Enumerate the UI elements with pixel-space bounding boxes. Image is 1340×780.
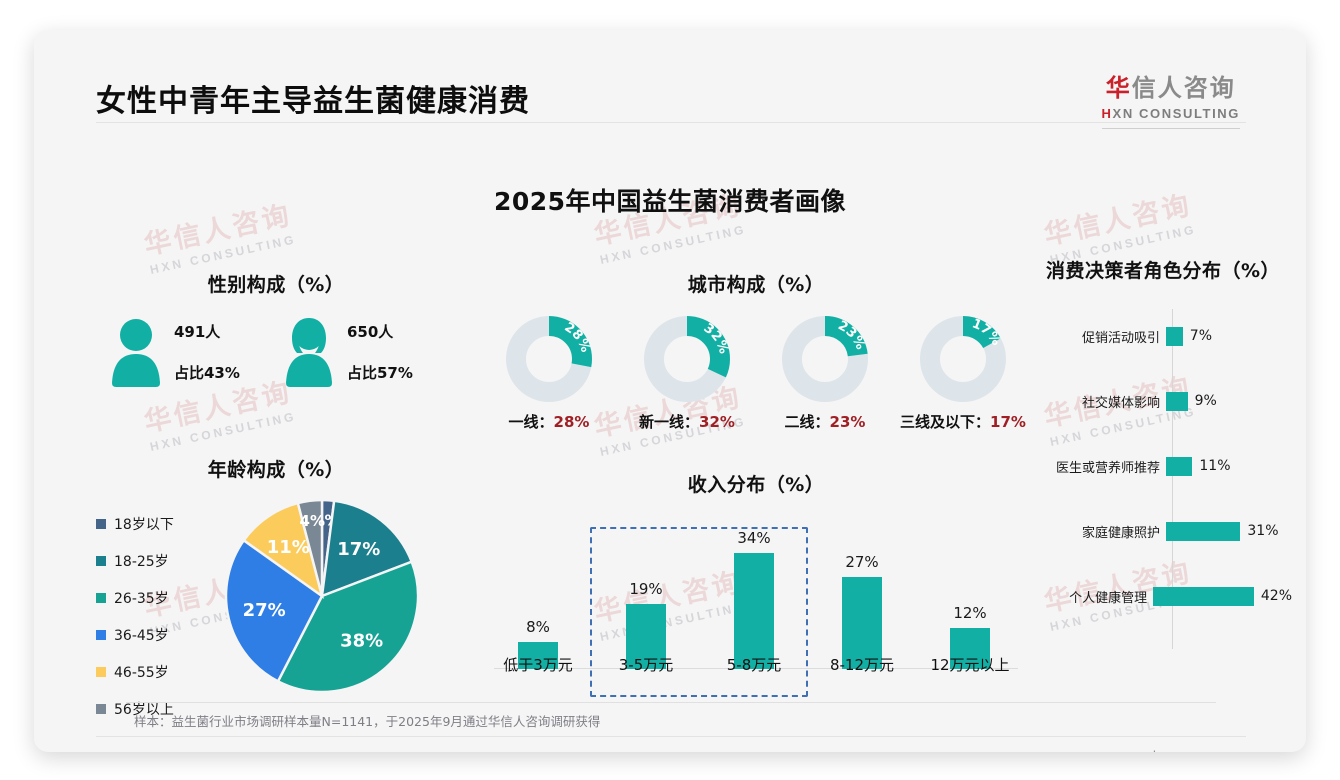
website-text: www.hxrcon.com xyxy=(1119,748,1226,752)
age-title: 年龄构成（%） xyxy=(96,455,456,482)
income-category-label: 低于3万元 xyxy=(486,654,590,675)
legend-swatch-icon xyxy=(96,519,106,529)
roles-category-label: 社交媒体影响 xyxy=(1034,392,1166,411)
income-bar-value: 12% xyxy=(918,604,1022,622)
roles-bar xyxy=(1166,327,1183,346)
income-category-label: 12万元以上 xyxy=(918,654,1022,675)
roles-bar-row: 促销活动吸引7% xyxy=(1034,323,1292,349)
male-stats: 491人 占比43% xyxy=(174,315,240,383)
logo-en-rest: XN CONSULTING xyxy=(1113,106,1240,121)
header-divider xyxy=(96,122,1246,123)
income-bar-column: 8%低于3万元 xyxy=(486,642,590,669)
sample-note: 样本：益生菌行业市场调研样本量N=1141，于2025年9月通过华信人咨询调研获… xyxy=(134,711,600,730)
pie-slice-label: 27% xyxy=(243,600,286,621)
roles-bar xyxy=(1166,392,1188,411)
gender-figures: 491人 占比43% 650人 占比57% xyxy=(96,315,456,387)
city-item-tier1: 28% 一线：28% xyxy=(486,313,612,432)
pie-slice-label: 38% xyxy=(340,630,383,651)
legend-item: 46-55岁 xyxy=(96,662,216,682)
roles-title: 消费决策者角色分布（%） xyxy=(1034,256,1292,283)
city-item-tier3: 17% 三线及以下：17% xyxy=(900,313,1026,432)
donut-chart-tier2: 23% xyxy=(779,313,871,405)
gender-title: 性别构成（%） xyxy=(96,270,456,297)
legend-swatch-icon xyxy=(96,593,106,603)
roles-panel: 消费决策者角色分布（%） 促销活动吸引7%社交媒体影响9%医生或营养师推荐11%… xyxy=(1034,256,1292,649)
pie-slice-label: 17% xyxy=(337,539,380,560)
income-title: 收入分布（%） xyxy=(486,470,1026,497)
roles-bar xyxy=(1166,522,1240,541)
infographic-card: 华信人咨询 HXN CONSULTING 华信人咨询 HXN CONSULTIN… xyxy=(34,30,1306,752)
male-count: 491人 xyxy=(174,321,240,342)
note-divider xyxy=(126,702,1216,703)
city-title: 城市构成（%） xyxy=(486,270,1026,297)
logo-en-red: H xyxy=(1102,106,1113,121)
income-bar-column: 12%12万元以上 xyxy=(918,628,1022,669)
income-bar-column: 27%8-12万元 xyxy=(810,577,914,669)
legend-item: 18岁以下 xyxy=(96,514,216,534)
pie-slice-label: 4% xyxy=(300,512,325,530)
legend-swatch-icon xyxy=(96,556,106,566)
income-bar-value: 27% xyxy=(810,553,914,571)
age-legend: 18岁以下 18-25岁 26-35岁 36-45岁 46-55岁 xyxy=(96,496,216,736)
income-bar xyxy=(734,553,774,669)
gender-panel: 性别构成（%） 491人 占比43% xyxy=(96,270,456,387)
legend-swatch-icon xyxy=(96,667,106,677)
logo-underline xyxy=(1102,128,1240,129)
city-panel: 城市构成（%） 28% 一线：28% xyxy=(486,270,1026,432)
roles-bar-row: 社交媒体影响9% xyxy=(1034,388,1292,414)
income-category-label: 3-5万元 xyxy=(594,654,698,675)
gender-item-female: 650人 占比57% xyxy=(283,315,456,387)
logo-chinese-text: 华信人咨询 xyxy=(1102,68,1240,103)
city-label-tier2: 二线：23% xyxy=(762,411,888,432)
income-bar-value: 34% xyxy=(702,529,806,547)
legend-swatch-icon xyxy=(96,704,106,714)
city-item-tier2: 23% 二线：23% xyxy=(762,313,888,432)
female-figure-icon xyxy=(283,315,335,387)
roles-bar-value: 31% xyxy=(1247,523,1278,539)
roles-category-label: 促销活动吸引 xyxy=(1034,327,1166,346)
female-stats: 650人 占比57% xyxy=(347,315,413,383)
roles-bar-row: 医生或营养师推荐11% xyxy=(1034,453,1292,479)
header: 女性中青年主导益生菌健康消费 华信人咨询 HXN CONSULTING xyxy=(34,30,1306,122)
roles-category-label: 医生或营养师推荐 xyxy=(1034,457,1166,476)
roles-bar-value: 42% xyxy=(1261,588,1292,604)
roles-bar-row: 个人健康管理42% xyxy=(1034,583,1292,609)
income-panel: 收入分布（%） 8%低于3万元19%3-5万元34%5-8万元27%8-12万元… xyxy=(486,470,1026,693)
donut-chart-tier3: 17% xyxy=(917,313,1009,405)
chart-subtitle: 2025年中国益生菌消费者画像 xyxy=(34,182,1306,218)
roles-category-label: 个人健康管理 xyxy=(1034,587,1153,606)
roles-category-label: 家庭健康照护 xyxy=(1034,522,1166,541)
city-label-tier3: 三线及以下：17% xyxy=(900,411,1026,432)
logo-english-text: HXN CONSULTING xyxy=(1102,106,1240,121)
income-category-label: 5-8万元 xyxy=(702,654,806,675)
income-bar-chart: 8%低于3万元19%3-5万元34%5-8万元27%8-12万元12%12万元以… xyxy=(486,513,1026,693)
roles-bar-row: 家庭健康照护31% xyxy=(1034,518,1292,544)
male-figure-icon xyxy=(110,315,162,387)
pie-slice-label: 11% xyxy=(267,537,310,558)
roles-bar-chart: 促销活动吸引7%社交媒体影响9%医生或营养师推荐11%家庭健康照护31%个人健康… xyxy=(1034,309,1292,649)
female-count: 650人 xyxy=(347,321,413,342)
donut-chart-tier1: 28% xyxy=(503,313,595,405)
city-item-newtier1: 32% 新一线：32% xyxy=(624,313,750,432)
male-share: 占比43% xyxy=(174,362,240,383)
income-bar-value: 19% xyxy=(594,580,698,598)
income-bar-column: 34%5-8万元 xyxy=(702,553,806,669)
footer-divider xyxy=(96,736,1246,737)
roles-bar-value: 9% xyxy=(1195,393,1217,409)
age-panel: 年龄构成（%） 18岁以下 18-25岁 26-35岁 36-45岁 xyxy=(96,455,456,736)
income-bar-column: 19%3-5万元 xyxy=(594,604,698,669)
donut-chart-newtier1: 32% xyxy=(641,313,733,405)
income-bar-value: 8% xyxy=(486,618,590,636)
age-pie-chart: 2%17%38%27%11%4% xyxy=(222,496,422,696)
logo-cn-rest: 信人咨询 xyxy=(1132,74,1236,102)
city-label-newtier1: 新一线：32% xyxy=(624,411,750,432)
city-donut-row: 28% 一线：28% 32% 新一 xyxy=(486,313,1026,432)
logo-cn-red: 华 xyxy=(1106,74,1132,102)
copyright-text: ©2025.11 HXR华信人咨询 xyxy=(114,748,271,752)
legend-item: 26-35岁 xyxy=(96,588,216,608)
legend-item: 36-45岁 xyxy=(96,625,216,645)
roles-bar xyxy=(1166,457,1192,476)
roles-bar-value: 7% xyxy=(1190,328,1212,344)
page-title: 女性中青年主导益生菌健康消费 xyxy=(96,76,530,120)
company-logo: 华信人咨询 HXN CONSULTING xyxy=(1102,68,1240,129)
legend-swatch-icon xyxy=(96,630,106,640)
gender-item-male: 491人 占比43% xyxy=(110,315,283,387)
roles-bar-value: 11% xyxy=(1199,458,1230,474)
income-category-label: 8-12万元 xyxy=(810,654,914,675)
legend-item: 18-25岁 xyxy=(96,551,216,571)
age-body: 18岁以下 18-25岁 26-35岁 36-45岁 46-55岁 xyxy=(96,496,456,736)
female-share: 占比57% xyxy=(347,362,413,383)
roles-bar xyxy=(1153,587,1254,606)
city-label-tier1: 一线：28% xyxy=(486,411,612,432)
